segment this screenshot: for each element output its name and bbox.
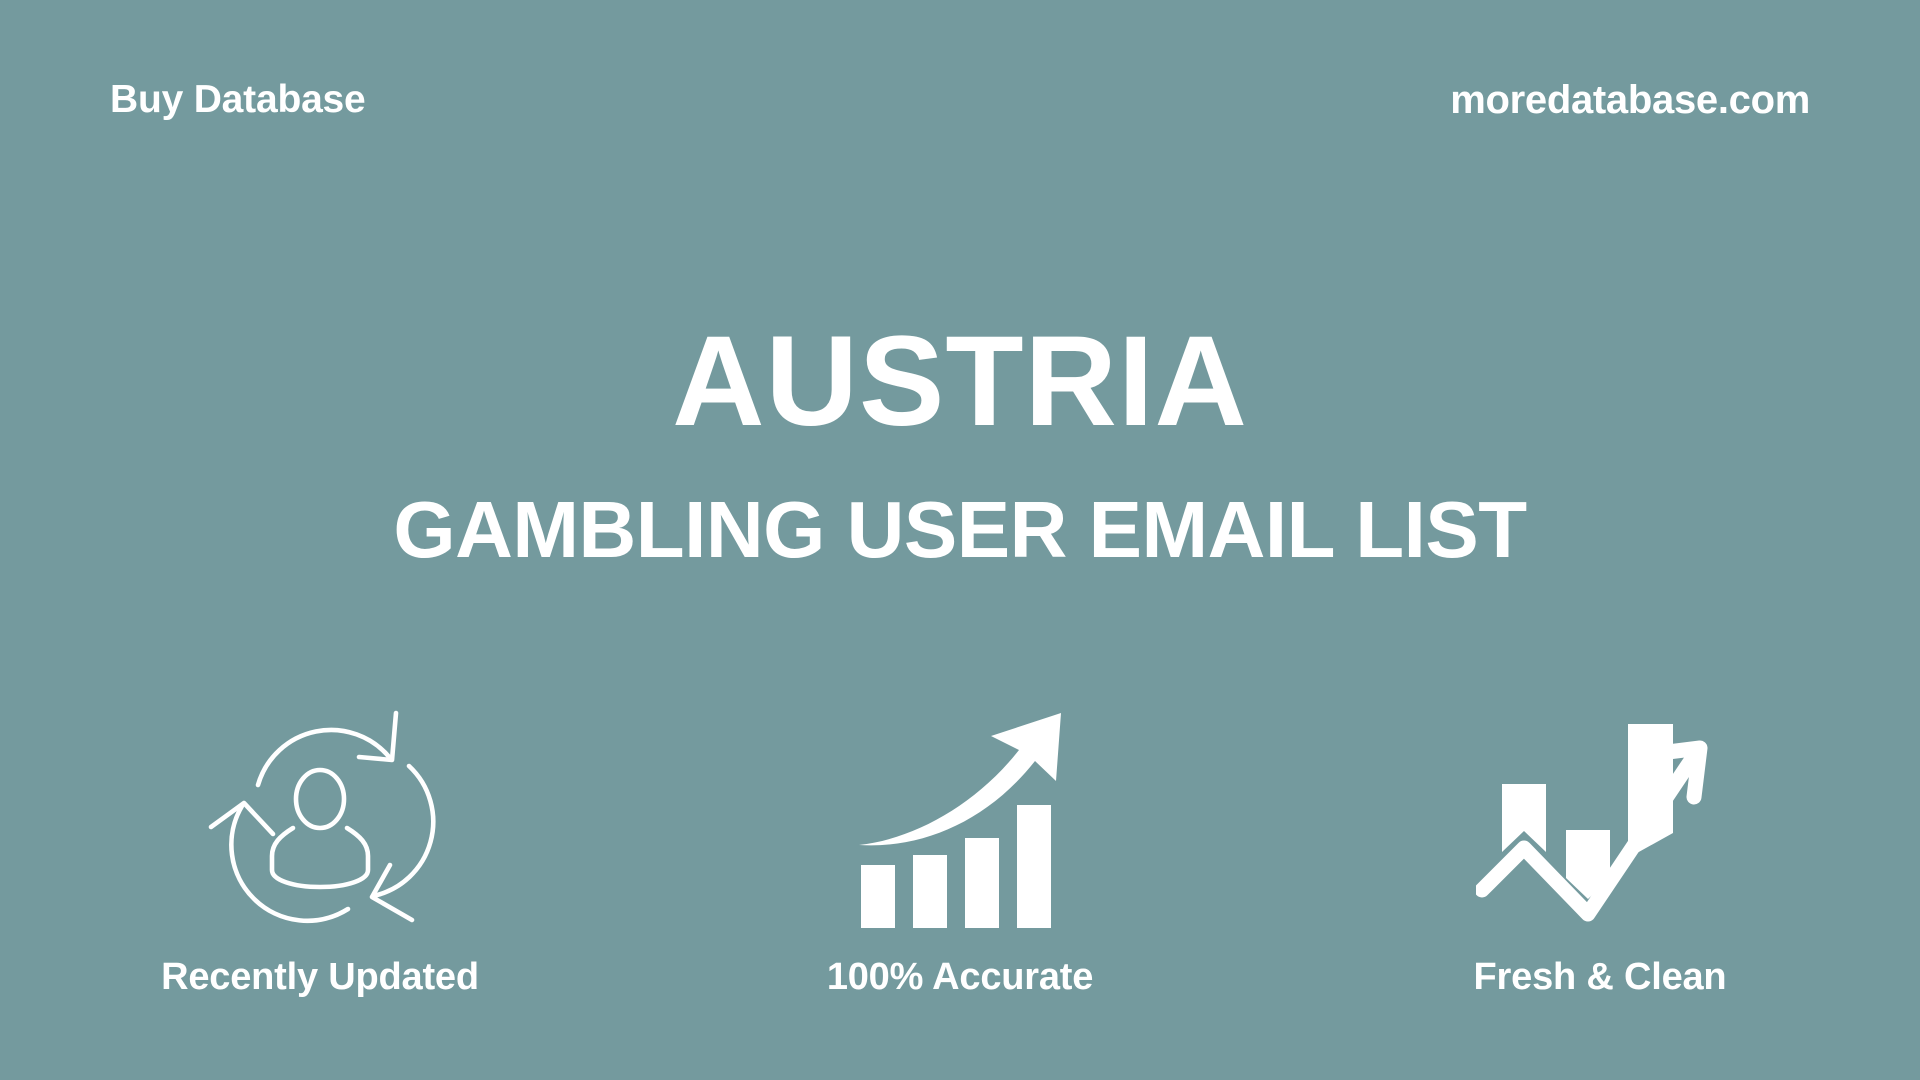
feature-accuracy: 100% Accurate [680, 690, 1240, 999]
site-domain-label: moredatabase.com [1450, 78, 1810, 123]
feature-row: Recently Updated 100% Accurate [0, 690, 1920, 1050]
page-subtitle: GAMBLING USER EMAIL LIST [0, 490, 1920, 570]
bar-chart-trend-arrow-icon [1476, 690, 1724, 950]
feature-label: 100% Accurate [827, 956, 1093, 999]
feature-label: Fresh & Clean [1474, 956, 1727, 999]
page-header: Buy Database moredatabase.com [0, 0, 1920, 200]
growth-bar-chart-arrow-icon [843, 690, 1078, 950]
feature-label: Recently Updated [161, 956, 479, 999]
brand-left-label: Buy Database [110, 78, 366, 122]
hero-section: AUSTRIA GAMBLING USER EMAIL LIST [0, 318, 1920, 570]
page-title: AUSTRIA [0, 318, 1920, 446]
user-refresh-cycle-icon [200, 690, 440, 950]
feature-fresh-clean: Fresh & Clean [1320, 690, 1880, 999]
feature-recently-updated: Recently Updated [40, 690, 600, 999]
